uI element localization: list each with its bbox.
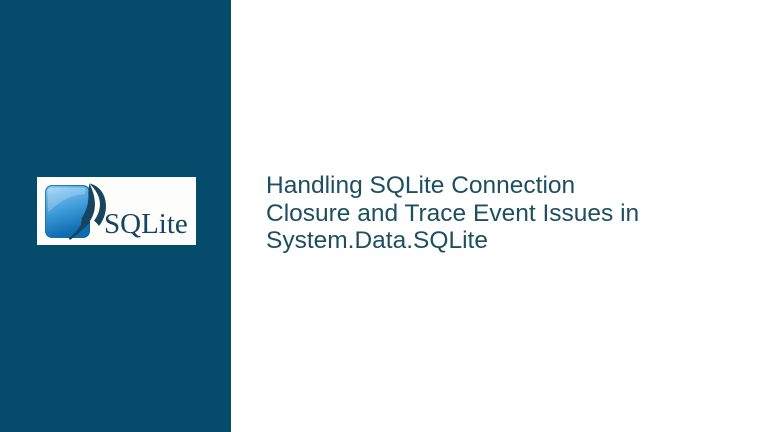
page-title-line-2: Closure and Trace Event Issues in bbox=[266, 200, 744, 228]
sqlite-logo-card: SQLite bbox=[37, 177, 196, 245]
sqlite-wordmark: SQLite bbox=[104, 208, 188, 240]
slide-canvas: SQLite Handling SQLite Connection Closur… bbox=[0, 0, 768, 432]
sqlite-logo: SQLite bbox=[37, 177, 196, 245]
sidebar-panel: SQLite bbox=[0, 0, 231, 432]
sqlite-logo-icon: SQLite bbox=[42, 181, 194, 243]
page-title-line-1: Handling SQLite Connection bbox=[266, 172, 744, 200]
page-title: Handling SQLite Connection Closure and T… bbox=[266, 172, 744, 255]
page-title-line-3: System.Data.SQLite bbox=[266, 227, 744, 255]
